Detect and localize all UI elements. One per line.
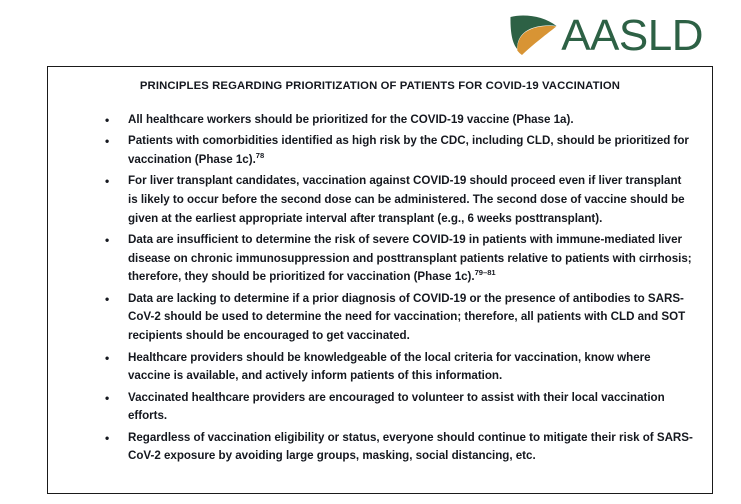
bullet-marker: •: [105, 290, 109, 309]
list-item: • All healthcare workers should be prior…: [48, 111, 712, 130]
list-item-text: For liver transplant candidates, vaccina…: [128, 174, 685, 225]
panel-title: PRINCIPLES REGARDING PRIORITIZATION OF P…: [74, 79, 686, 94]
citation-superscript: 79–81: [475, 269, 496, 278]
bullet-marker: •: [105, 349, 109, 368]
principles-bullet-list: • All healthcare workers should be prior…: [48, 111, 712, 467]
list-item-text: Data are lacking to determine if a prior…: [128, 292, 685, 343]
list-item: • Data are insufficient to determine the…: [48, 231, 712, 287]
aasld-logo: AASLD: [508, 11, 703, 59]
aasld-brand-text: AASLD: [561, 14, 703, 58]
document-header: AASLD: [0, 0, 741, 66]
bullet-marker: •: [105, 111, 109, 130]
list-item-text: Data are insufficient to determine the r…: [128, 233, 692, 284]
bullet-marker: •: [105, 389, 109, 408]
list-item-text: Patients with comorbidities identified a…: [128, 134, 689, 166]
list-item: • For liver transplant candidates, vacci…: [48, 172, 712, 228]
citation-superscript: 78: [256, 151, 264, 160]
list-item: • Healthcare providers should be knowled…: [48, 349, 712, 387]
list-item: • Regardless of vaccination eligibility …: [48, 429, 712, 467]
bullet-marker: •: [105, 132, 109, 151]
bullet-marker: •: [105, 231, 109, 250]
list-item: • Data are lacking to determine if a pri…: [48, 290, 712, 346]
list-item: • Patients with comorbidities identified…: [48, 132, 712, 170]
list-item-text: Vaccinated healthcare providers are enco…: [128, 391, 665, 423]
aasld-leaf-logo-icon: [508, 11, 560, 59]
principles-panel: PRINCIPLES REGARDING PRIORITIZATION OF P…: [47, 66, 713, 494]
list-item-text: Regardless of vaccination eligibility or…: [128, 431, 693, 463]
list-item-text: Healthcare providers should be knowledge…: [128, 351, 651, 383]
bullet-marker: •: [105, 429, 109, 448]
bullet-marker: •: [105, 172, 109, 191]
list-item: • Vaccinated healthcare providers are en…: [48, 389, 712, 427]
list-item-text: All healthcare workers should be priorit…: [128, 113, 574, 126]
